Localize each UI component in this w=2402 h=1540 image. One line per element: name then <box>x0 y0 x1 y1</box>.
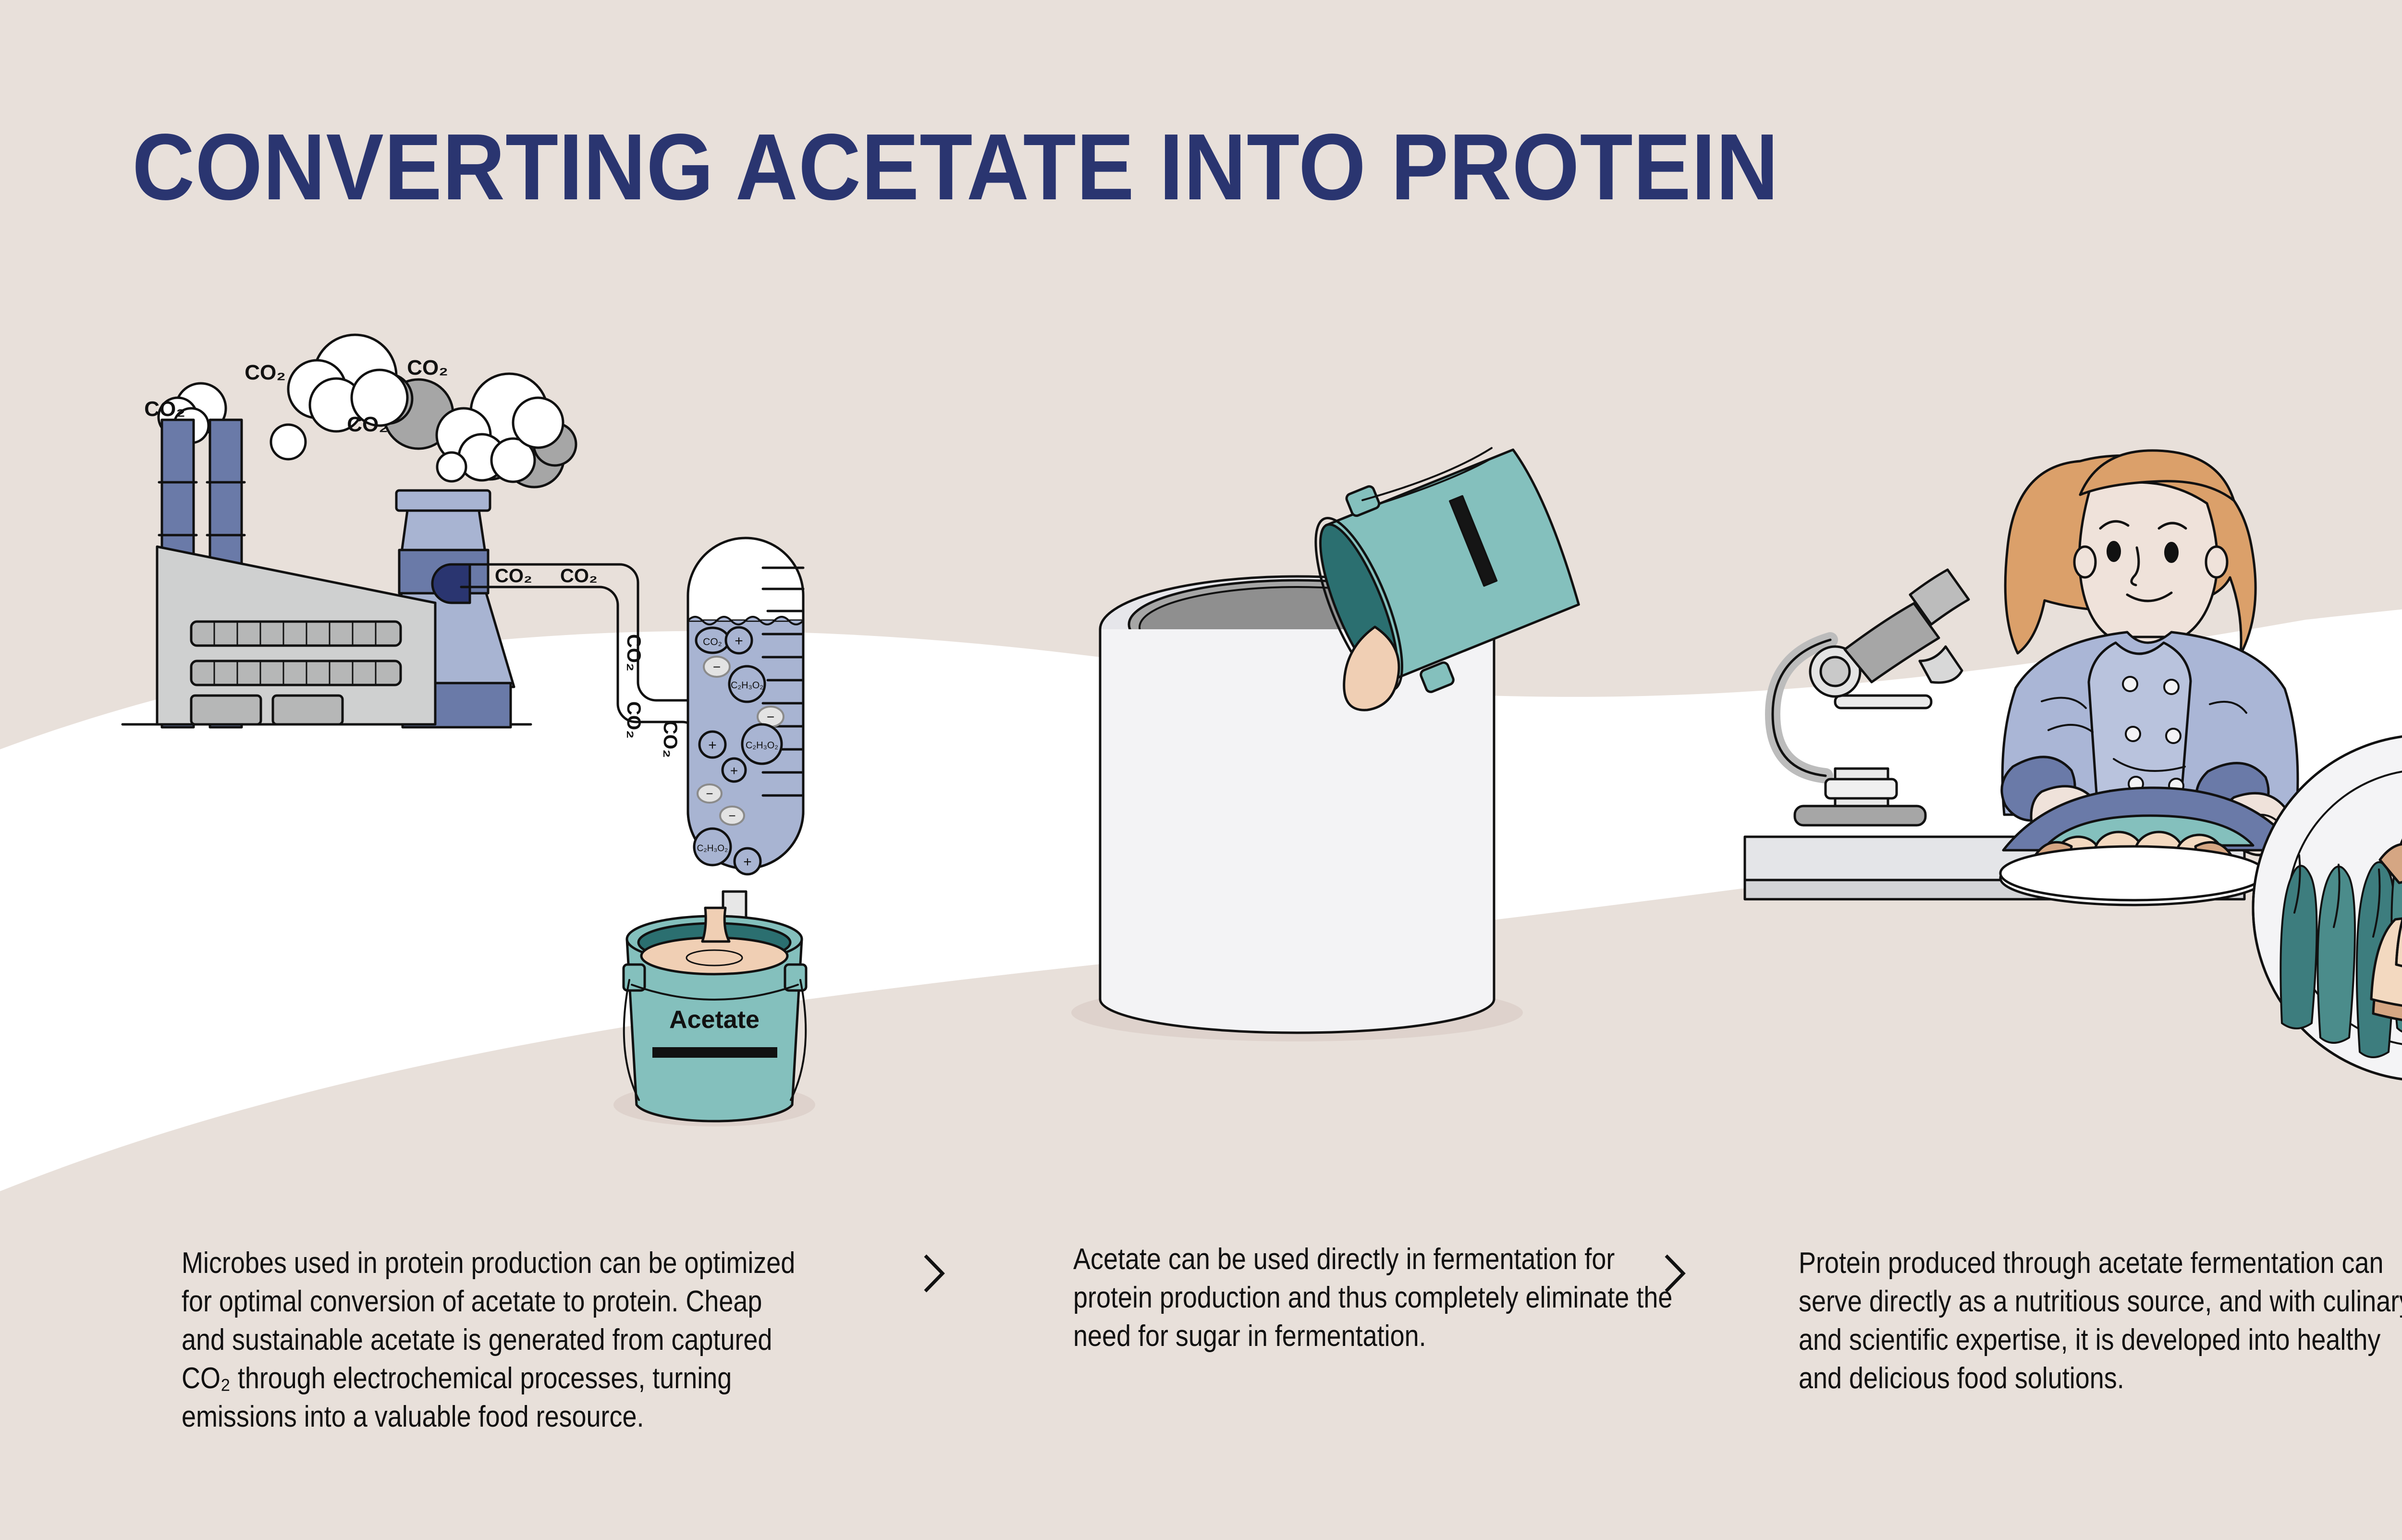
infographic-canvas: CO₂ CO₂ CO₂ CO₂ <box>0 0 2402 1540</box>
step-caption-2: Acetate can be used directly in fermenta… <box>1073 1240 1688 1356</box>
caption-row: Microbes used in protein production can … <box>0 1244 2402 1494</box>
step-caption-1: Microbes used in protein production can … <box>182 1244 809 1436</box>
page-title: CONVERTING ACETATE INTO PROTEIN <box>132 120 1779 214</box>
step-caption-3: Protein produced through acetate ferment… <box>1799 1244 2402 1398</box>
